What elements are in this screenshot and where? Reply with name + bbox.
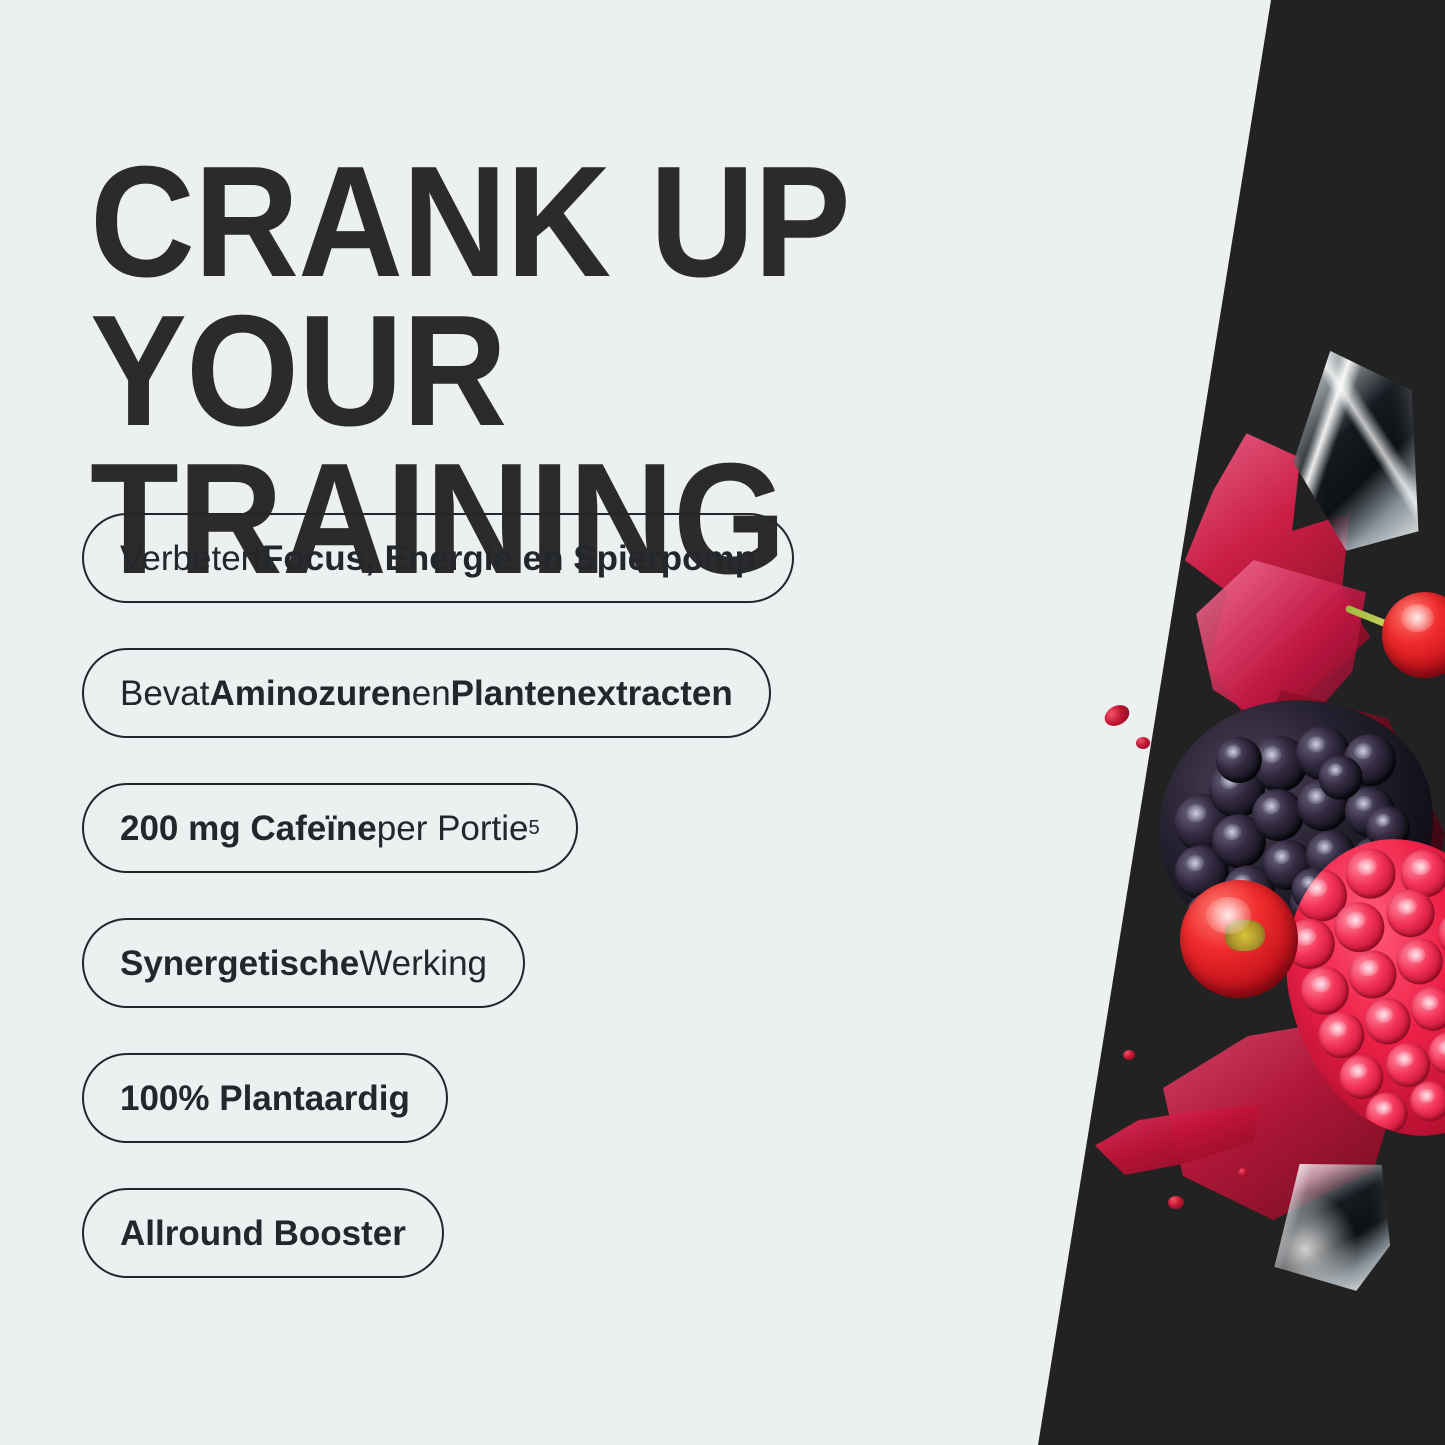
benefit-text-suffix: Werking	[359, 946, 487, 981]
benefit-footnote-marker: 5	[529, 818, 540, 838]
droplet-2	[1136, 737, 1150, 749]
raspberry-drupelet	[1344, 946, 1401, 1003]
benefit-pill-synergetische-werking: Synergetische Werking	[82, 918, 525, 1008]
benefit-text-prefix: Bevat	[120, 676, 210, 711]
red-currant-top	[1382, 592, 1445, 678]
benefit-text-bold-2: Plantenextracten	[451, 676, 733, 711]
currant-calyx	[1225, 920, 1265, 951]
droplet-1	[1101, 701, 1133, 730]
ice-cube-top-icon	[1277, 339, 1435, 557]
promo-canvas: CRANK UP YOUR TRAINING Verbetert Focus, …	[0, 0, 1445, 1445]
benefit-text-mid: en	[412, 676, 451, 711]
benefit-text-bold: Focus, Energie en Spierpomp	[262, 541, 756, 576]
benefit-pill-cafeine-per-portie: 200 mg Cafeïne per Portie5	[82, 783, 578, 873]
benefit-text-bold: Aminozuren	[210, 676, 412, 711]
raspberry-drupelet	[1407, 983, 1445, 1035]
benefit-pill-focus-energie-spierpomp: Verbetert Focus, Energie en Spierpomp	[82, 513, 794, 603]
benefit-text-bold: 100% Plantaardig	[120, 1081, 410, 1116]
red-currant-center	[1180, 880, 1298, 998]
benefit-text-bold: Synergetische	[120, 946, 359, 981]
raspberry-drupelet	[1341, 844, 1400, 903]
benefit-text-prefix: Verbetert	[120, 541, 262, 576]
headline-line-1: CRANK UP YOUR	[90, 134, 847, 459]
benefit-pill-plantaardig: 100% Plantaardig	[82, 1053, 448, 1143]
benefit-pill-allround-booster: Allround Booster	[82, 1188, 444, 1278]
raspberry-drupelet	[1360, 994, 1415, 1049]
benefit-text-bold: Allround Booster	[120, 1216, 406, 1251]
benefit-pill-aminozuren-plantenextracten: Bevat Aminozuren en Plantenextracten	[82, 648, 771, 738]
raspberry-drupelet	[1393, 934, 1445, 989]
raspberry-drupelet	[1296, 962, 1353, 1019]
benefit-list: Verbetert Focus, Energie en SpierpompBev…	[82, 513, 794, 1323]
benefit-text-bold: 200 mg Cafeïne	[120, 811, 377, 846]
benefit-text-suffix: per Portie	[377, 811, 529, 846]
